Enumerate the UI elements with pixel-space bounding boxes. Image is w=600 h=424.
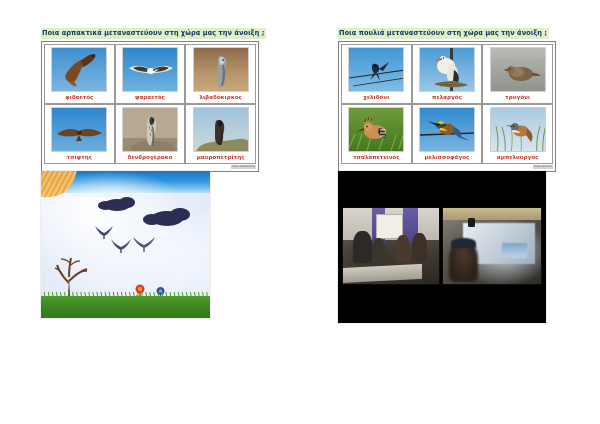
osprey-photo: [122, 47, 178, 92]
bird-cell-tsiftis[interactable]: τσίφτης: [44, 104, 115, 164]
table-row: τσίφτης δενδρογέρακο: [44, 104, 256, 164]
bird-cell-tsalapeteinos[interactable]: τσαλαπετεινός: [341, 104, 412, 164]
bird-cell-fidaetos[interactable]: φιδαετός: [44, 44, 115, 104]
hoopoe-photo: [348, 107, 404, 152]
bird-label: αμπελουργός: [497, 155, 539, 161]
classroom-desk: [342, 264, 422, 284]
participant-silhouette: [412, 233, 427, 263]
bird-label: τσαλαπετεινός: [353, 155, 400, 161]
cloud-icon: [151, 211, 183, 226]
raptors-panel-title: Ποια αρπακτικά μεταναστεύουν στη χώρα μα…: [41, 28, 266, 39]
projected-content: [502, 243, 527, 259]
table-row: φιδαετός ψαραετός: [44, 44, 256, 104]
video-conference-screenshot[interactable]: [338, 171, 546, 323]
raptors-table-credit: ΠΟΙΑ ΑΡΠΑΚΤΙΚΑ: [231, 165, 256, 169]
participant-silhouette: [353, 231, 372, 263]
birds-table-credit: ΠΟΙΑ ΠΟΥΛΙΑ: [533, 165, 553, 169]
bird-cell-melissofagos[interactable]: μελισσοφάγος: [412, 104, 483, 164]
montagus-harrier-photo: [193, 47, 249, 92]
bird-cell-mavropetritis[interactable]: μαυροπετρίτης: [185, 104, 256, 164]
webcam-icon: [468, 218, 475, 227]
bird-label: ψαραετός: [135, 95, 165, 101]
black-kite-photo: [51, 107, 107, 152]
table-row: χελιδόνι: [341, 44, 553, 104]
bird-label: τρυγόνι: [505, 95, 530, 101]
bird-label: πελαργός: [432, 95, 462, 101]
bird-label: μελισσοφάγος: [425, 155, 470, 161]
video-tile-presenter[interactable]: [442, 207, 542, 285]
participant-silhouette: [396, 235, 410, 264]
childrens-spring-drawing[interactable]: [41, 171, 210, 318]
bird-label: τσίφτης: [67, 155, 92, 161]
birds-table: χελιδόνι: [338, 41, 556, 172]
whitethroat-photo: [490, 107, 546, 152]
birds-panel-title: Ποια πουλιά μεταναστεύουν στη χώρα μας τ…: [338, 28, 549, 39]
bird-cell-chelidoni[interactable]: χελιδόνι: [341, 44, 412, 104]
raptors-table: φιδαετός ψαραετός: [41, 41, 259, 172]
bird-label: φιδαετός: [65, 95, 93, 101]
cloud-icon: [104, 199, 130, 211]
bird-cell-ampelourgos[interactable]: αμπελουργός: [482, 104, 553, 164]
swallow-drawing-icon: [109, 236, 133, 255]
bee-eater-photo: [419, 107, 475, 152]
table-row: τσαλαπετεινός: [341, 104, 553, 164]
bird-label: λιβαδόκιρκος: [199, 95, 242, 101]
short-toed-eagle-photo: [51, 47, 107, 92]
bird-label: δενδρογέρακο: [127, 155, 172, 161]
participant-silhouette: [372, 238, 385, 262]
drawing-sky-glow: [61, 171, 181, 197]
room-wall-top: [443, 208, 541, 220]
video-tile-classroom[interactable]: [342, 207, 440, 285]
bird-cell-livadokirkos[interactable]: λιβαδόκιρκος: [185, 44, 256, 104]
eleonoras-falcon-photo: [193, 107, 249, 152]
raptors-panel: Ποια αρπακτικά μεταναστεύουν στη χώρα μα…: [41, 20, 266, 172]
bird-cell-pelargos[interactable]: πελαργός: [412, 44, 483, 104]
grass-drawing: [41, 296, 210, 318]
swallow-drawing-icon: [131, 233, 157, 254]
bird-cell-trygoni[interactable]: τρυγόνι: [482, 44, 553, 104]
bird-label: μαυροπετρίτης: [197, 155, 245, 161]
credit-wrap: ΠΟΙΑ ΑΡΠΑΚΤΙΚΑ: [44, 164, 256, 169]
presenter-cap: [451, 238, 476, 248]
bird-cell-psaraetos[interactable]: ψαραετός: [115, 44, 186, 104]
swallow-photo: [348, 47, 404, 92]
hobby-falcon-photo: [122, 107, 178, 152]
bird-cell-dendrogerako[interactable]: δενδρογέρακο: [115, 104, 186, 164]
stork-photo: [419, 47, 475, 92]
turtle-dove-photo: [490, 47, 546, 92]
birds-panel: Ποια πουλιά μεταναστεύουν στη χώρα μας τ…: [338, 20, 556, 172]
bird-label: χελιδόνι: [363, 95, 389, 101]
credit-wrap: ΠΟΙΑ ΠΟΥΛΙΑ: [341, 164, 553, 169]
